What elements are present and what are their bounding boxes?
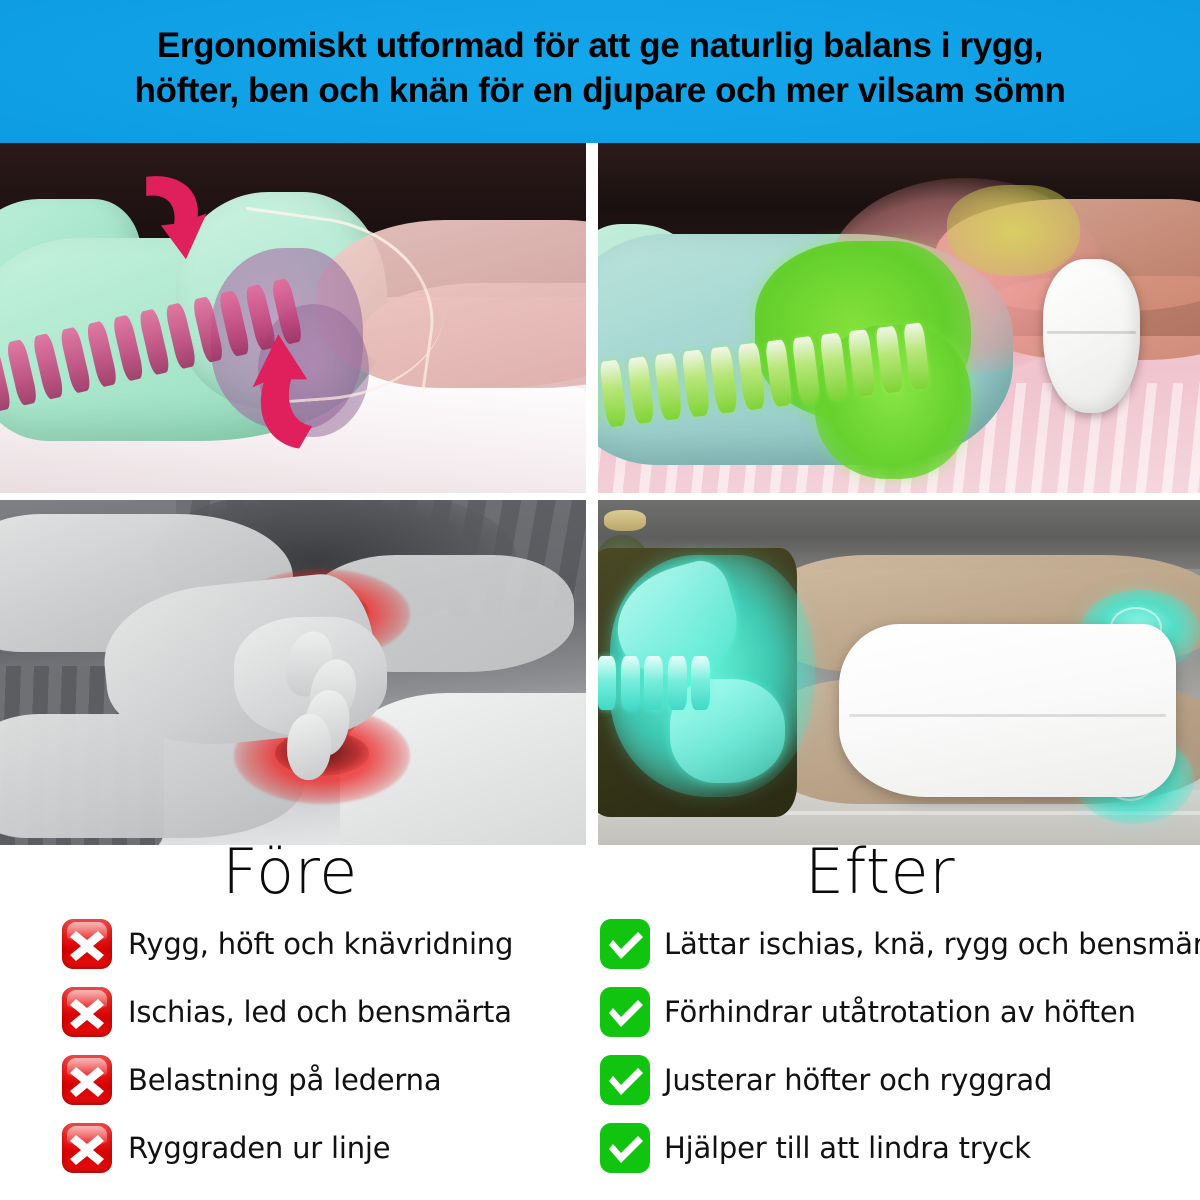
check-glyph [600,919,650,969]
header-banner: Ergonomiskt utformad för att ge naturlig… [0,0,1200,143]
panel-after-spine-aligned [598,143,1200,493]
red-x-icon [62,1123,112,1173]
x-glyph [62,1055,112,1105]
knee-pillow-product [1043,259,1139,413]
list-item: Rygg, höft och knävridning [0,910,600,978]
check-glyph [600,1055,650,1105]
headline-text: Ergonomiskt utformad för att ge naturlig… [135,24,1066,114]
x-glyph [62,987,112,1037]
green-check-icon [600,987,650,1037]
list-item: Förhindrar utåtrotation av höften [600,978,1200,1046]
list-item-label: Ischias, led och bensmärta [128,995,512,1029]
panel-after-skeleton-wedge [598,500,1200,845]
twist-arrow-up-icon [240,294,345,455]
green-check-icon [600,1123,650,1173]
panel-before-knee-pain [0,500,586,845]
after-title: Efter [580,841,1180,903]
before-column: Före Rygg, höft och knävridning Ischias,… [0,845,600,1200]
red-x-icon [62,987,112,1037]
check-glyph [600,987,650,1037]
list-item: Hjälper till att lindra tryck [600,1114,1200,1182]
panel-before-spine-twist [0,143,586,493]
list-item: Ischias, led och bensmärta [0,978,600,1046]
red-x-icon [62,919,112,969]
wedge-pillow-product [839,624,1176,797]
green-check-icon [600,1055,650,1105]
list-item: Lättar ischias, knä, rygg och bensmärta [600,910,1200,978]
list-item: Belastning på lederna [0,1046,600,1114]
image-gallery [0,143,1200,845]
check-glyph [600,1123,650,1173]
red-x-icon [62,1055,112,1105]
list-item-label: Justerar höfter och ryggrad [664,1063,1052,1097]
after-list: Lättar ischias, knä, rygg och bensmärta … [600,910,1200,1182]
green-check-icon [600,919,650,969]
list-item: Ryggraden ur linje [0,1114,600,1182]
before-list: Rygg, höft och knävridning Ischias, led … [0,910,600,1182]
x-glyph [62,919,112,969]
x-glyph [62,1123,112,1173]
after-column: Efter Lättar ischias, knä, rygg och bens… [600,845,1200,1200]
list-item: Justerar höfter och ryggrad [600,1046,1200,1114]
comparison-section: Före Rygg, höft och knävridning Ischias,… [0,845,1200,1200]
before-title: Före [0,841,590,903]
twist-arrow-down-icon [117,171,222,318]
list-item-label: Belastning på lederna [128,1063,441,1097]
list-item-label: Ryggraden ur linje [128,1131,390,1165]
list-item-label: Lättar ischias, knä, rygg och bensmärta [664,927,1200,961]
list-item-label: Rygg, höft och knävridning [128,927,513,961]
list-item-label: Förhindrar utåtrotation av höften [664,995,1136,1029]
list-item-label: Hjälper till att lindra tryck [664,1131,1031,1165]
